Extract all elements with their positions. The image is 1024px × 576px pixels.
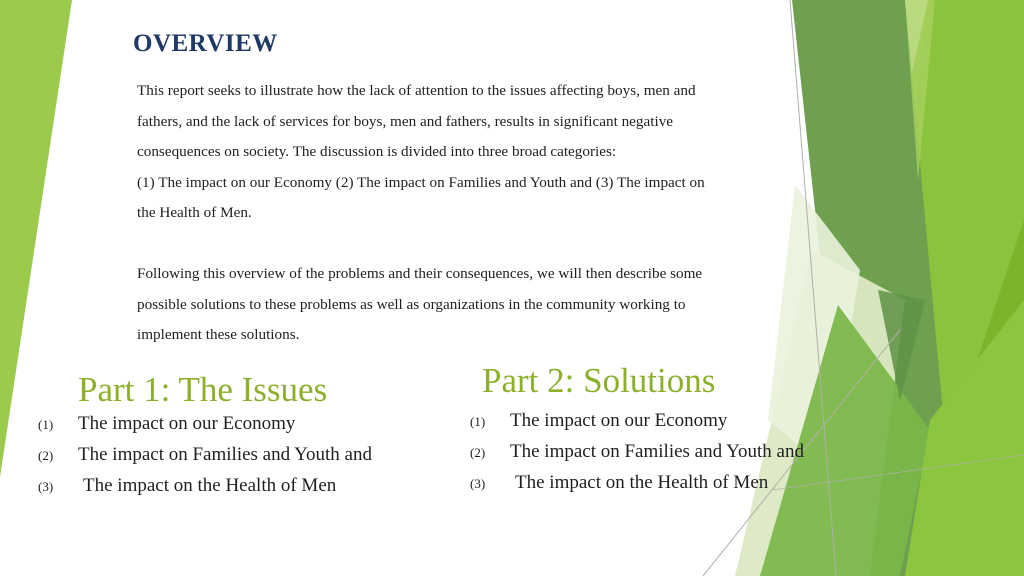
list-item-label: The impact on the Health of Men: [510, 472, 768, 494]
list-marker: (1): [470, 414, 510, 430]
slide-canvas: OVERVIEW This report seeks to illustrate…: [0, 0, 1024, 576]
body-line: This report seeks to illustrate how the …: [137, 76, 777, 107]
list-item-label: The impact on our Economy: [78, 413, 295, 435]
body-line: implement these solutions.: [137, 320, 777, 351]
list-item: (2) The impact on Families and Youth and: [470, 441, 870, 472]
body-line: possible solutions to these problems as …: [137, 290, 777, 321]
body-line: consequences on society. The discussion …: [137, 137, 777, 168]
list-item: (3) The impact on the Health of Men: [38, 475, 438, 506]
body-line: the Health of Men.: [137, 198, 777, 229]
list-marker: (3): [470, 476, 510, 492]
part-2-heading: Part 2: Solutions: [482, 361, 715, 401]
list-marker: (2): [38, 448, 78, 464]
body-line: fathers, and the lack of services for bo…: [137, 107, 777, 138]
list-item-label: The impact on the Health of Men: [78, 475, 336, 497]
list-marker: (1): [38, 417, 78, 433]
part-1-heading: Part 1: The Issues: [78, 370, 327, 410]
list-item: (1) The impact on our Economy: [470, 410, 870, 441]
part-1-list: (1) The impact on our Economy (2) The im…: [38, 413, 438, 506]
list-item: (2) The impact on Families and Youth and: [38, 444, 438, 475]
slide-content: OVERVIEW This report seeks to illustrate…: [0, 0, 1024, 576]
list-item: (1) The impact on our Economy: [38, 413, 438, 444]
paragraph-spacer: [137, 229, 777, 259]
overview-body-text: This report seeks to illustrate how the …: [137, 76, 777, 351]
list-item-label: The impact on Families and Youth and: [78, 444, 372, 466]
list-item: (3) The impact on the Health of Men: [470, 472, 870, 503]
body-line: (1) The impact on our Economy (2) The im…: [137, 168, 777, 199]
part-2-list: (1) The impact on our Economy (2) The im…: [470, 410, 870, 503]
page-title: OVERVIEW: [133, 30, 278, 58]
list-item-label: The impact on Families and Youth and: [510, 441, 804, 463]
list-marker: (2): [470, 445, 510, 461]
body-line: Following this overview of the problems …: [137, 259, 777, 290]
list-marker: (3): [38, 479, 78, 495]
list-item-label: The impact on our Economy: [510, 410, 727, 432]
